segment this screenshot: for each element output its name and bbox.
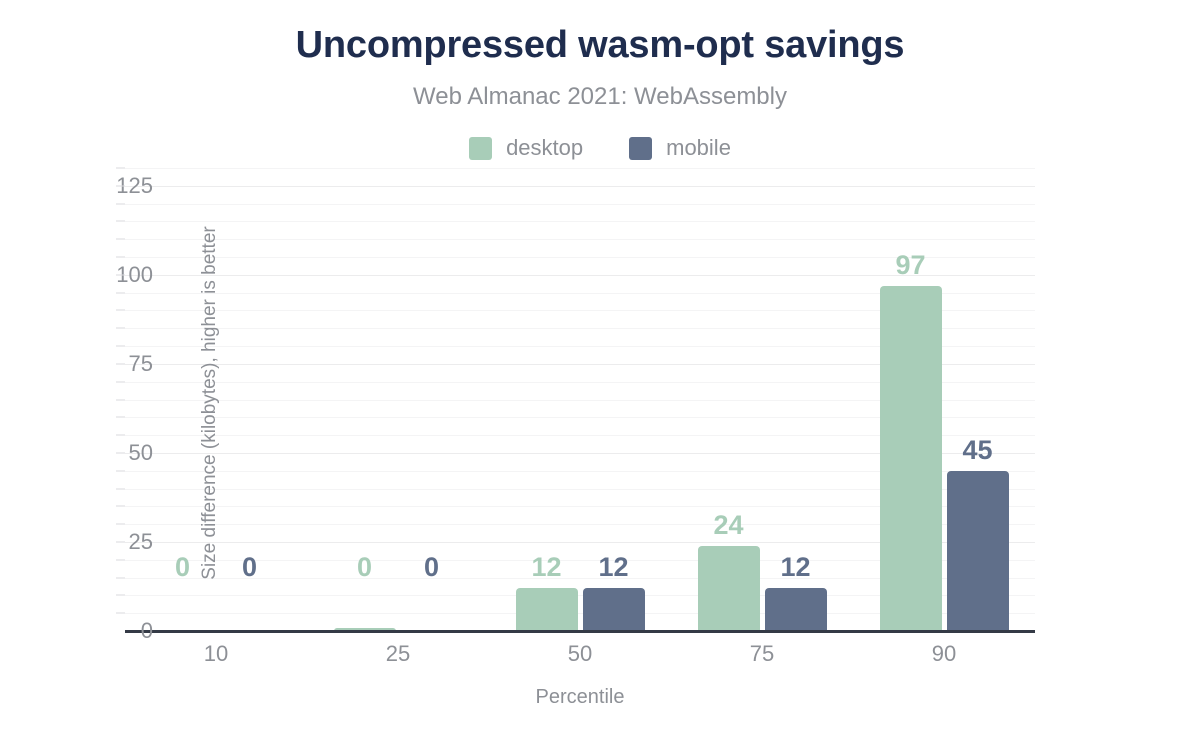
chart-subtitle: Web Almanac 2021: WebAssembly (0, 83, 1200, 111)
plot-area (125, 168, 1035, 631)
x-axis-tick-label: 90 (853, 641, 1035, 667)
y-axis-tick-mark (116, 506, 125, 507)
y-axis-tick-label: 50 (33, 440, 153, 466)
legend-swatch-desktop-icon (469, 137, 492, 160)
x-axis-title: Percentile (125, 686, 1035, 709)
x-axis-tick-label: 25 (307, 641, 489, 667)
y-axis-tick-mark (116, 310, 125, 311)
bar-mobile-p50[interactable] (583, 588, 645, 631)
legend-swatch-mobile-icon (629, 137, 652, 160)
y-axis-tick-mark (116, 541, 125, 542)
y-axis-tick-mark (116, 595, 125, 596)
x-axis-tick-label: 10 (125, 641, 307, 667)
y-axis-title: Size difference (kilobytes), higher is b… (199, 173, 221, 633)
y-axis-tick-mark (116, 435, 125, 436)
gridline (125, 186, 1035, 187)
y-axis-tick-label: 100 (33, 262, 153, 288)
bar-desktop-p90[interactable] (880, 286, 942, 631)
bar-value-label-mobile-p75: 12 (780, 552, 810, 583)
bar-value-label-mobile-p25: 0 (424, 552, 439, 583)
y-axis-tick-mark (116, 470, 125, 471)
y-axis-tick-mark (116, 613, 125, 614)
gridline (125, 239, 1035, 240)
bar-value-label-desktop-p50: 12 (531, 552, 561, 583)
y-axis-tick-mark (116, 346, 125, 347)
bar-desktop-p50[interactable] (516, 588, 578, 631)
y-axis-tick-mark (116, 524, 125, 525)
chart-title: Uncompressed wasm-opt savings (0, 24, 1200, 67)
y-axis-tick-mark (116, 399, 125, 400)
bar-value-label-mobile-p10: 0 (242, 552, 257, 583)
y-axis-tick-mark (116, 274, 125, 275)
gridline (125, 168, 1035, 169)
y-axis-tick-label: 75 (33, 351, 153, 377)
bar-value-label-mobile-p90: 45 (962, 435, 992, 466)
y-axis-tick-mark (116, 328, 125, 329)
y-axis-tick-mark (116, 168, 125, 169)
bar-value-label-desktop-p75: 24 (713, 510, 743, 541)
y-axis-tick-mark (116, 381, 125, 382)
legend-label-mobile: mobile (666, 135, 731, 161)
y-axis-tick-mark (116, 203, 125, 204)
y-axis-tick-mark (116, 185, 125, 186)
y-axis-tick-mark (116, 363, 125, 364)
y-axis-tick-mark (116, 577, 125, 578)
y-axis-tick-mark (116, 488, 125, 489)
bar-desktop-p75[interactable] (698, 546, 760, 631)
bar-value-label-desktop-p90: 97 (895, 250, 925, 281)
y-axis-tick-mark (116, 452, 125, 453)
y-axis-tick-mark (116, 417, 125, 418)
x-axis-tick-label: 75 (671, 641, 853, 667)
legend-label-desktop: desktop (506, 135, 583, 161)
bar-value-label-desktop-p10: 0 (175, 552, 190, 583)
chart-legend: desktopmobile (0, 135, 1200, 161)
x-axis-line (125, 630, 1035, 633)
x-axis-tick-label: 50 (489, 641, 671, 667)
y-axis-tick-mark (116, 292, 125, 293)
gridline (125, 221, 1035, 222)
y-axis-tick-label: 25 (33, 529, 153, 555)
bar-value-label-desktop-p25: 0 (357, 552, 372, 583)
bar-value-label-mobile-p50: 12 (598, 552, 628, 583)
bar-mobile-p75[interactable] (765, 588, 827, 631)
y-axis-tick-mark (116, 221, 125, 222)
y-axis-tick-label: 125 (33, 173, 153, 199)
legend-entry-mobile[interactable]: mobile (629, 135, 731, 161)
gridline (125, 204, 1035, 205)
y-axis-tick-mark (116, 239, 125, 240)
legend-entry-desktop[interactable]: desktop (469, 135, 583, 161)
y-axis-tick-mark (116, 559, 125, 560)
bar-mobile-p90[interactable] (947, 471, 1009, 631)
y-axis-tick-mark (116, 257, 125, 258)
